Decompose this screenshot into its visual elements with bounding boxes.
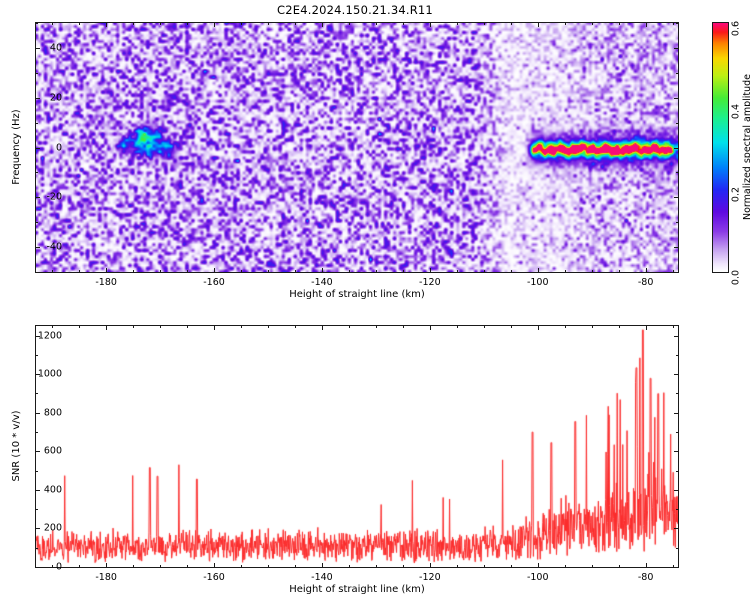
y-tick-label: 40 (28, 42, 62, 53)
y-minor-tick (676, 222, 678, 223)
x-minor-tick (673, 270, 674, 272)
x-tick (106, 326, 107, 330)
x-tick-label: -120 (419, 277, 441, 288)
x-minor-tick (673, 326, 674, 328)
x-minor-tick (511, 565, 512, 567)
x-tick-label: -100 (527, 572, 549, 583)
x-minor-tick (403, 23, 404, 25)
x-minor-tick (349, 270, 350, 272)
y-minor-tick (676, 548, 678, 549)
x-minor-tick (511, 23, 512, 25)
y-tick-label: 1000 (28, 369, 62, 380)
x-tick (106, 563, 107, 567)
colorbar-tick-label: 0.6 (731, 16, 742, 42)
y-tick-label: 20 (28, 92, 62, 103)
x-minor-tick (565, 326, 566, 328)
x-tick (322, 23, 323, 27)
x-tick (646, 23, 647, 27)
x-minor-tick (565, 23, 566, 25)
x-tick (322, 326, 323, 330)
x-tick-label: -80 (638, 572, 654, 583)
y-minor-tick (676, 432, 678, 433)
y-minor-tick (36, 355, 38, 356)
x-minor-tick (268, 23, 269, 25)
x-minor-tick (241, 565, 242, 567)
x-minor-tick (619, 270, 620, 272)
y-tick (674, 451, 678, 452)
y-minor-tick (36, 393, 38, 394)
x-minor-tick (619, 565, 620, 567)
snr-xaxis-label: Height of straight line (km) (289, 584, 425, 595)
y-tick-label: -40 (28, 242, 62, 253)
y-tick (674, 413, 678, 414)
x-minor-tick (484, 565, 485, 567)
colorbar-gradient (713, 23, 728, 272)
x-minor-tick (484, 23, 485, 25)
y-minor-tick (676, 73, 678, 74)
x-minor-tick (187, 326, 188, 328)
x-minor-tick (511, 270, 512, 272)
x-tick (106, 268, 107, 272)
y-minor-tick (676, 355, 678, 356)
x-minor-tick (349, 23, 350, 25)
y-tick (674, 148, 678, 149)
x-tick (214, 23, 215, 27)
x-minor-tick (403, 565, 404, 567)
x-minor-tick (376, 326, 377, 328)
y-tick-label: 800 (28, 407, 62, 418)
x-minor-tick (187, 270, 188, 272)
y-minor-tick (676, 123, 678, 124)
x-minor-tick (376, 23, 377, 25)
y-tick (674, 567, 678, 568)
y-minor-tick (676, 471, 678, 472)
x-minor-tick (457, 326, 458, 328)
colorbar-tick-label: 0.2 (731, 182, 742, 208)
colorbar-tick-label: 0.4 (731, 99, 742, 125)
x-tick (646, 268, 647, 272)
x-minor-tick (79, 565, 80, 567)
x-tick-label: -100 (527, 277, 549, 288)
x-minor-tick (52, 270, 53, 272)
x-tick (214, 268, 215, 272)
x-minor-tick (565, 270, 566, 272)
y-minor-tick (36, 509, 38, 510)
x-minor-tick (268, 326, 269, 328)
x-minor-tick (295, 565, 296, 567)
x-minor-tick (241, 326, 242, 328)
x-minor-tick (349, 326, 350, 328)
x-minor-tick (133, 565, 134, 567)
x-minor-tick (241, 23, 242, 25)
spectrogram-image (36, 23, 678, 272)
y-minor-tick (676, 393, 678, 394)
y-minor-tick (676, 272, 678, 273)
x-minor-tick (160, 270, 161, 272)
x-minor-tick (619, 23, 620, 25)
y-minor-tick (676, 23, 678, 24)
y-tick-label: -20 (28, 192, 62, 203)
y-minor-tick (36, 123, 38, 124)
snr-yaxis-label: SNR (10 * v/v) (11, 410, 22, 481)
y-tick-label: 600 (28, 446, 62, 457)
y-tick (674, 528, 678, 529)
x-minor-tick (592, 326, 593, 328)
x-tick (430, 23, 431, 27)
x-minor-tick (160, 23, 161, 25)
x-minor-tick (295, 23, 296, 25)
colorbar (712, 22, 729, 273)
x-minor-tick (511, 326, 512, 328)
x-minor-tick (160, 565, 161, 567)
y-minor-tick (36, 172, 38, 173)
snr-line-trace (36, 326, 678, 567)
y-tick-label: 1200 (28, 330, 62, 341)
x-minor-tick (376, 565, 377, 567)
x-minor-tick (295, 326, 296, 328)
x-minor-tick (403, 270, 404, 272)
x-minor-tick (133, 270, 134, 272)
x-minor-tick (457, 565, 458, 567)
x-tick-label: -180 (95, 277, 117, 288)
y-minor-tick (676, 509, 678, 510)
y-tick (674, 490, 678, 491)
x-minor-tick (403, 326, 404, 328)
y-minor-tick (36, 73, 38, 74)
x-minor-tick (484, 326, 485, 328)
x-minor-tick (52, 23, 53, 25)
x-minor-tick (592, 565, 593, 567)
y-minor-tick (36, 23, 38, 24)
page-title: C2E4.2024.150.21.34.R11 (0, 3, 710, 17)
y-tick-label: 400 (28, 484, 62, 495)
x-tick (214, 563, 215, 567)
x-tick-label: -80 (638, 277, 654, 288)
y-minor-tick (36, 471, 38, 472)
x-tick-label: -180 (95, 572, 117, 583)
x-minor-tick (592, 270, 593, 272)
x-minor-tick (79, 326, 80, 328)
x-minor-tick (295, 270, 296, 272)
x-tick (646, 326, 647, 330)
x-tick (538, 326, 539, 330)
x-tick (538, 563, 539, 567)
x-minor-tick (565, 565, 566, 567)
y-minor-tick (36, 548, 38, 549)
x-tick (106, 23, 107, 27)
colorbar-label: Normalized spectral amplitude (742, 74, 750, 220)
x-minor-tick (592, 23, 593, 25)
y-tick (674, 197, 678, 198)
x-minor-tick (376, 270, 377, 272)
x-tick (538, 23, 539, 27)
y-minor-tick (36, 272, 38, 273)
x-minor-tick (133, 23, 134, 25)
y-minor-tick (36, 432, 38, 433)
x-tick (322, 268, 323, 272)
colorbar-tick-label: 0.0 (731, 265, 742, 291)
x-tick-label: -120 (419, 572, 441, 583)
x-minor-tick (52, 326, 53, 328)
x-minor-tick (268, 565, 269, 567)
x-minor-tick (79, 23, 80, 25)
y-tick-label: 0 (28, 562, 62, 573)
x-tick (322, 563, 323, 567)
y-minor-tick (36, 222, 38, 223)
x-minor-tick (160, 326, 161, 328)
y-tick (674, 336, 678, 337)
x-minor-tick (241, 270, 242, 272)
x-tick-label: -140 (311, 572, 333, 583)
x-minor-tick (268, 270, 269, 272)
y-tick (674, 48, 678, 49)
x-minor-tick (457, 23, 458, 25)
spectrogram-axes (35, 22, 679, 273)
x-minor-tick (133, 326, 134, 328)
y-tick (674, 98, 678, 99)
x-tick (646, 563, 647, 567)
x-tick-label: -140 (311, 277, 333, 288)
x-tick (430, 563, 431, 567)
x-minor-tick (457, 270, 458, 272)
figure-canvas: C2E4.2024.150.21.34.R11 -180-160-140-120… (0, 0, 750, 600)
x-minor-tick (673, 23, 674, 25)
x-minor-tick (349, 565, 350, 567)
y-tick (674, 374, 678, 375)
y-tick-label: 0 (28, 142, 62, 153)
x-tick-label: -160 (203, 277, 225, 288)
x-minor-tick (619, 326, 620, 328)
x-minor-tick (187, 565, 188, 567)
y-tick-label: 200 (28, 523, 62, 534)
x-tick (430, 268, 431, 272)
x-tick-label: -160 (203, 572, 225, 583)
y-tick (674, 247, 678, 248)
snr-axes (35, 325, 679, 568)
x-tick (214, 326, 215, 330)
x-tick (538, 268, 539, 272)
x-minor-tick (79, 270, 80, 272)
spectrogram-yaxis-label: Frequency (Hz) (11, 109, 22, 184)
x-tick (430, 326, 431, 330)
x-minor-tick (484, 270, 485, 272)
spectrogram-xaxis-label: Height of straight line (km) (289, 289, 425, 300)
y-minor-tick (676, 172, 678, 173)
x-minor-tick (187, 23, 188, 25)
